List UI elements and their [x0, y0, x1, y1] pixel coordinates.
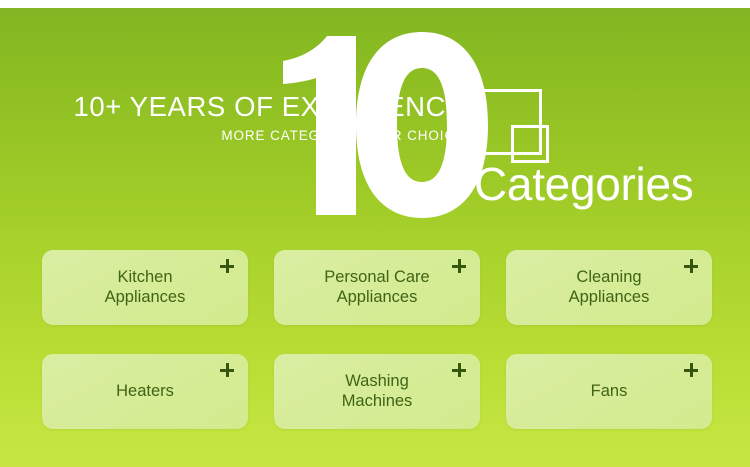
headline-text: 10+ YEARS OF EXPERIENCE [0, 93, 465, 121]
categories-title: Categories [474, 161, 693, 207]
plus-icon[interactable] [684, 363, 698, 377]
subheadline-text: MORE CATEGORIES FOR CHOICE [0, 129, 465, 143]
plus-icon[interactable] [452, 259, 466, 273]
plus-icon[interactable] [452, 363, 466, 377]
category-card-washing-machines[interactable]: Washing Machines [274, 354, 480, 429]
category-card-label: Personal Care Appliances [324, 268, 429, 307]
category-card-fans[interactable]: Fans [506, 354, 712, 429]
headline-block: 10+ YEARS OF EXPERIENCE MORE CATEGORIES … [0, 93, 470, 142]
category-card-label: Fans [591, 382, 628, 401]
plus-icon[interactable] [684, 259, 698, 273]
category-card-label: Heaters [116, 382, 174, 401]
category-card-label: Cleaning Appliances [569, 268, 650, 307]
category-card-cleaning-appliances[interactable]: Cleaning Appliances [506, 250, 712, 325]
promo-banner: 10+ YEARS OF EXPERIENCE MORE CATEGORIES … [0, 0, 750, 467]
category-card-personal-care-appliances[interactable]: Personal Care Appliances [274, 250, 480, 325]
category-card-kitchen-appliances[interactable]: Kitchen Appliances [42, 250, 248, 325]
category-card-grid: Kitchen Appliances Personal Care Applian… [42, 250, 712, 429]
plus-icon[interactable] [220, 363, 234, 377]
category-card-heaters[interactable]: Heaters [42, 354, 248, 429]
plus-icon[interactable] [220, 259, 234, 273]
category-card-label: Kitchen Appliances [105, 268, 186, 307]
category-card-label: Washing Machines [342, 372, 413, 411]
